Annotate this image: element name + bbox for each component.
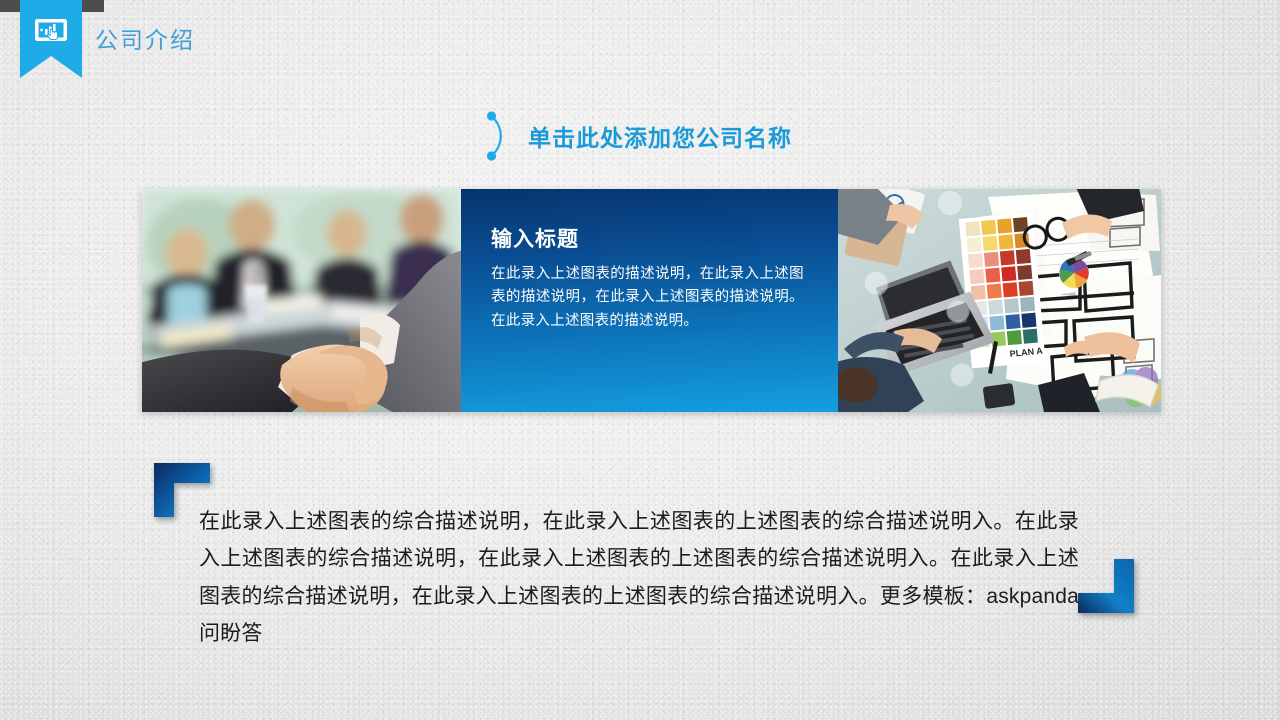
slide-canvas: 公司介绍 单击此处添加您公司名称: [0, 0, 1280, 720]
design-team-illustration: PLAN A: [838, 189, 1161, 412]
business-handshake-photo: [142, 189, 461, 412]
page-title: 公司介绍: [95, 21, 195, 55]
section-heading-label: 单击此处添加您公司名称: [528, 119, 792, 153]
header-badge: [20, 0, 82, 56]
section-heading: 单击此处添加您公司名称: [484, 110, 792, 162]
corner-bracket-bottom-right: [1074, 559, 1134, 613]
body-paragraph: 在此录入上述图表的综合描述说明，在此录入上述图表的上述图表的综合描述说明入。在此…: [199, 503, 1079, 653]
card-body: 在此录入上述图表的描述说明，在此录入上述图表的描述说明，在此录入上述图表的描述说…: [491, 263, 804, 333]
presentation-chart-touch-icon: [34, 18, 68, 44]
card-title: 输入标题: [491, 223, 804, 253]
crescent-bracket-ornament: [484, 110, 510, 162]
design-team-overhead-photo: PLAN A: [838, 189, 1161, 412]
banner: 输入标题 在此录入上述图表的描述说明，在此录入上述图表的描述说明，在此录入上述图…: [142, 189, 1161, 412]
handshake-illustration: [142, 189, 461, 412]
banner-text-card: 输入标题 在此录入上述图表的描述说明，在此录入上述图表的描述说明，在此录入上述图…: [461, 189, 838, 412]
